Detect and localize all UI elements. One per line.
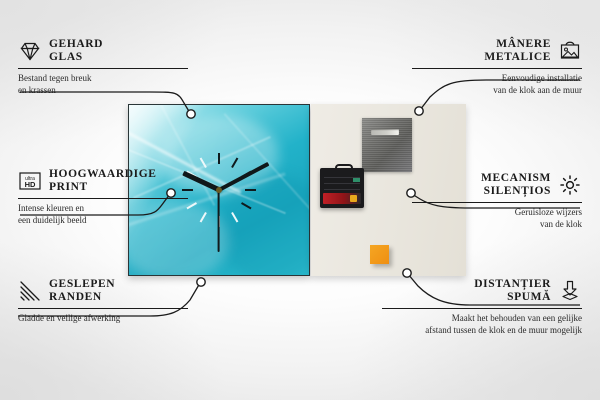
feature-subtitle: Maakt het behouden van een gelijke afsta… (382, 313, 582, 336)
metal-texture (362, 118, 412, 172)
feature-subtitle: Intense kleuren en een duidelijk beeld (18, 203, 188, 226)
hanger-keyhole-slot (371, 129, 399, 135)
mechanism-seam (324, 189, 360, 190)
feature-divider (18, 308, 188, 309)
diamond-icon (18, 39, 42, 63)
feature-header: GEHARD GLAS (18, 38, 188, 64)
feature-title: MÂNERE METALICE (484, 38, 551, 64)
feature-subtitle: Gladde en veilige afwerking (18, 313, 188, 325)
infographic-canvas: GEHARD GLAS Bestand tegen breuk en krass… (0, 0, 600, 400)
mechanism-tab (353, 178, 360, 182)
svg-text:HD: HD (25, 180, 36, 189)
feature-divider (412, 68, 582, 69)
feature-manere-metalice: MÂNERE METALICE Eenvoudige installatie v… (412, 38, 582, 96)
feature-title: MECANISM SILENȚIOS (481, 172, 551, 198)
feature-title: GESLEPEN RANDEN (49, 278, 115, 304)
metal-hanger-plate (362, 118, 412, 172)
feature-header: GESLEPEN RANDEN (18, 278, 188, 304)
down-arrow-stack-icon (558, 279, 582, 303)
feature-subtitle: Eenvoudige installatie van de klok aan d… (412, 73, 582, 96)
quartz-clock-mechanism (320, 164, 364, 208)
feature-subtitle: Bestand tegen breuk en krassen (18, 73, 188, 96)
feature-header: ultra HD HOOGWAARDIGE PRINT (18, 168, 188, 194)
feature-title: HOOGWAARDIGE PRINT (49, 168, 157, 194)
mechanism-seam (324, 183, 360, 184)
feature-header: MECANISM SILENȚIOS (412, 172, 582, 198)
feature-subtitle: Geruisloze wijzers van de klok (412, 207, 582, 230)
clock-second-hand (218, 190, 220, 252)
leader-dot-geslepen-randen (197, 278, 205, 286)
feature-divider (412, 202, 582, 203)
feature-divider (18, 68, 188, 69)
feature-divider (382, 308, 582, 309)
clock-center-cap (216, 187, 222, 193)
feature-header: MÂNERE METALICE (412, 38, 582, 64)
picture-frame-hanger-icon (558, 39, 582, 63)
mechanism-body (320, 168, 364, 208)
feature-distantier-spuma: DISTANȚIER SPUMĂ Maakt het behouden van … (382, 278, 582, 336)
feature-mecanism-silentios: MECANISM SILENȚIOS Geruisloze wijzers va… (412, 172, 582, 230)
battery-terminal (350, 195, 357, 202)
ultra-hd-icon: ultra HD (18, 169, 42, 193)
feature-hoogwaardige-print: ultra HD HOOGWAARDIGE PRINT Intense kleu… (18, 168, 188, 226)
feature-title: DISTANȚIER SPUMĂ (474, 278, 551, 304)
feature-geslepen-randen: GESLEPEN RANDEN Gladde en veilige afwerk… (18, 278, 188, 325)
battery (323, 193, 361, 204)
foam-spacer (370, 245, 389, 264)
feature-title: GEHARD GLAS (49, 38, 103, 64)
feature-gehard-glas: GEHARD GLAS Bestand tegen breuk en krass… (18, 38, 188, 96)
gear-icon (558, 173, 582, 197)
bevelled-edges-icon (18, 279, 42, 303)
feature-divider (18, 198, 188, 199)
feature-header: DISTANȚIER SPUMĂ (382, 278, 582, 304)
